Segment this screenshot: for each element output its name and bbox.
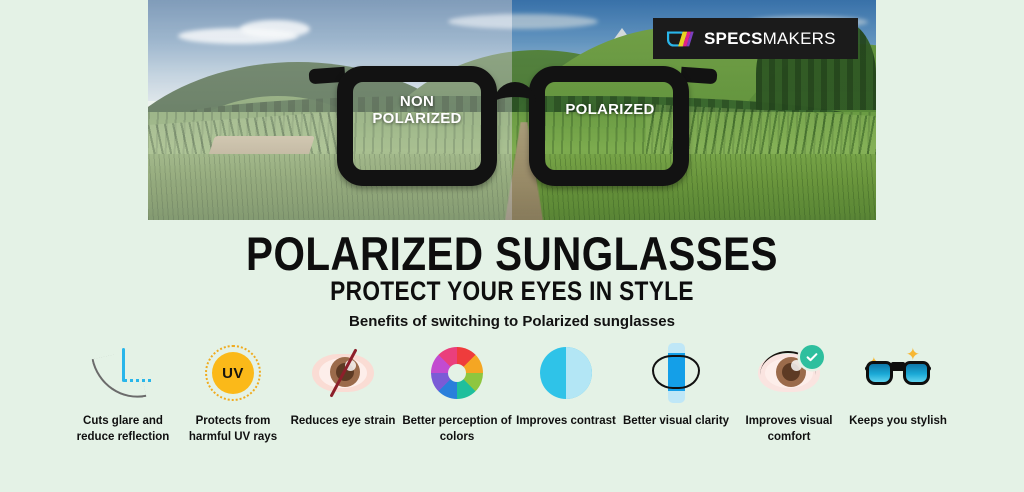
stylish-sunglasses-icon: ✦ ✦ xyxy=(866,353,930,393)
benefits-intro-line: Benefits of switching to Polarized sungl… xyxy=(0,313,1024,330)
brand-logo-text: SPECSMAKERS xyxy=(704,29,836,49)
page-subtitle: PROTECT YOUR EYES IN STYLE xyxy=(82,276,942,307)
glare-dotted-ray xyxy=(124,379,154,382)
sunglasses-bridge xyxy=(891,362,905,367)
benefit-icon-slot: UV xyxy=(169,342,297,404)
polarized-label: POLARIZED xyxy=(545,102,675,119)
clarity-lens-outline xyxy=(652,355,700,389)
check-badge-icon xyxy=(800,345,824,369)
lens-right xyxy=(529,66,689,186)
benefit-item-glare[interactable]: Cuts glare and reduce reflection xyxy=(59,342,187,445)
non-polarized-label: NON POLARIZED xyxy=(357,94,477,128)
sunglasses-lens-left xyxy=(866,361,893,385)
benefit-item-clarity[interactable]: Better visual clarity xyxy=(612,342,740,430)
check-icon xyxy=(805,350,819,364)
benefit-caption: Cuts glare and reduce reflection xyxy=(59,414,187,445)
benefit-icon-slot xyxy=(612,342,740,404)
benefit-caption: Improves contrast xyxy=(502,414,630,430)
sunglasses-frame xyxy=(866,361,930,385)
benefit-icon-slot xyxy=(59,342,187,404)
glare-reflection-icon xyxy=(94,344,152,402)
uv-shield-icon: UV xyxy=(205,345,261,401)
benefit-caption: Reduces eye strain xyxy=(279,414,407,430)
benefit-caption: Keeps you stylish xyxy=(834,414,962,430)
benefit-item-eye-strain[interactable]: Reduces eye strain xyxy=(279,342,407,430)
specsmakers-lens-icon xyxy=(665,28,695,50)
sunglasses-lens-right xyxy=(903,361,930,385)
benefit-icon-slot xyxy=(502,342,630,404)
benefit-caption: Protects from harmful UV rays xyxy=(169,414,297,445)
hero-banner: NON POLARIZED POLARIZED SPECSMAKERS xyxy=(148,0,876,220)
contrast-circle-icon xyxy=(540,347,592,399)
uv-dotted-ring xyxy=(205,345,261,401)
glare-vertical-ray xyxy=(122,348,125,382)
poster-root: NON POLARIZED POLARIZED SPECSMAKERS POLA… xyxy=(0,0,1024,492)
visual-clarity-icon xyxy=(649,343,703,403)
benefit-item-uv[interactable]: UV Protects from harmful UV rays xyxy=(169,342,297,445)
color-wheel-icon xyxy=(431,347,483,399)
sunglasses-overlay: NON POLARIZED POLARIZED xyxy=(337,58,689,220)
benefit-caption: Better visual clarity xyxy=(612,414,740,430)
benefit-item-stylish[interactable]: ✦ ✦ Keeps you stylish xyxy=(834,342,962,430)
benefit-icon-slot: ✦ ✦ xyxy=(834,342,962,404)
page-title: POLARIZED SUNGLASSES xyxy=(72,226,953,281)
non-polarized-label-line1: NON xyxy=(357,94,477,111)
glare-arc xyxy=(92,350,147,407)
brand-name-light: MAKERS xyxy=(763,29,836,48)
benefit-item-contrast[interactable]: Improves contrast xyxy=(502,342,630,430)
benefits-row: Cuts glare and reduce reflection UV Prot… xyxy=(0,342,1024,492)
benefit-icon-slot xyxy=(279,342,407,404)
non-polarized-label-line2: POLARIZED xyxy=(357,111,477,128)
brand-name-bold: SPECS xyxy=(704,29,763,48)
eye-strain-icon xyxy=(312,350,374,396)
eye-check-icon xyxy=(758,350,820,396)
brand-logo[interactable]: SPECSMAKERS xyxy=(653,18,858,59)
